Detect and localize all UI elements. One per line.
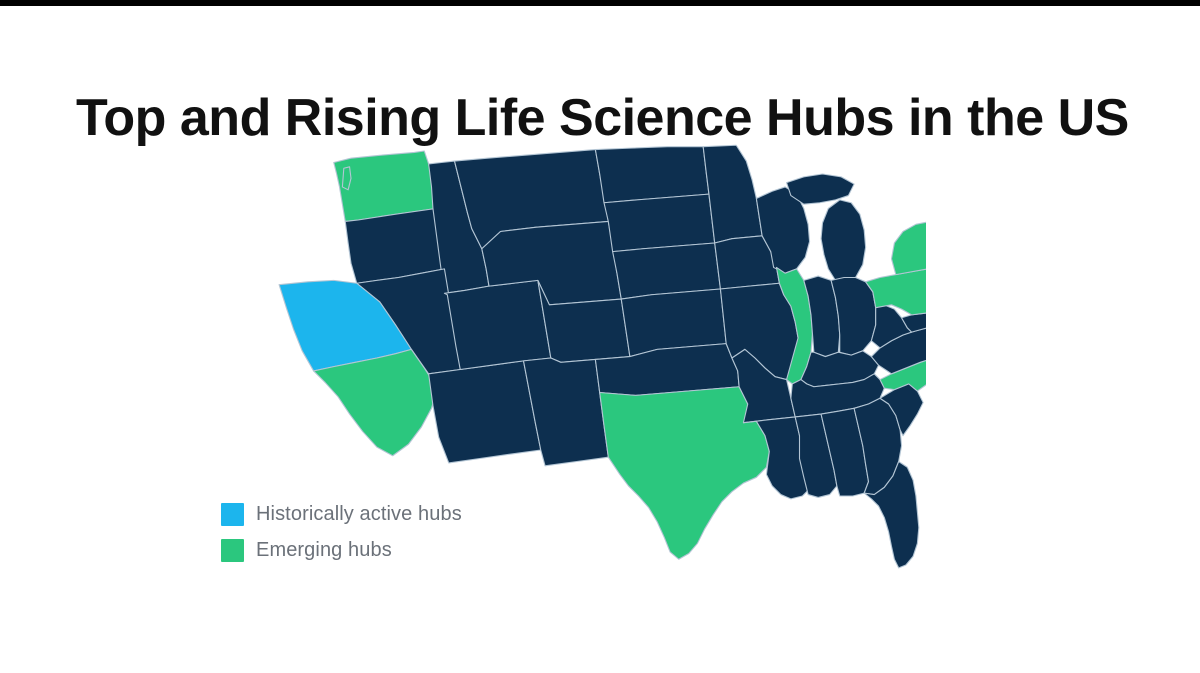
state-TX[interactable] [600,387,770,560]
state-SD[interactable] [604,194,715,252]
state-NY[interactable] [892,217,927,275]
map-legend: Historically active hubs Emerging hubs [221,503,462,562]
legend-label-emerging: Emerging hubs [256,539,392,562]
state-MI[interactable] [821,200,866,285]
state-UT[interactable] [444,280,550,369]
state-MI-upper[interactable] [787,174,855,204]
top-black-bar [0,0,1200,6]
state-ND[interactable] [595,147,709,203]
legend-item-historically-active[interactable]: Historically active hubs [221,503,462,526]
legend-swatch-historically-active [221,503,244,526]
legend-label-historically-active: Historically active hubs [256,503,462,526]
state-AZ[interactable] [429,361,541,463]
legend-swatch-emerging [221,539,244,562]
infographic-page: Top and Rising Life Science Hubs in the … [0,0,1200,673]
legend-item-emerging[interactable]: Emerging hubs [221,539,462,562]
